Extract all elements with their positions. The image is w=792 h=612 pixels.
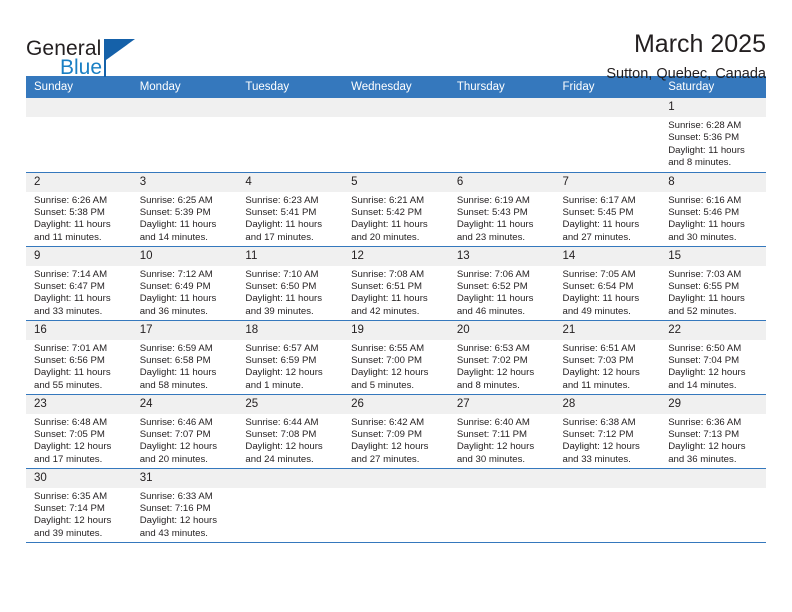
sunrise-text: Sunrise: 7:08 AM xyxy=(351,269,445,281)
sunrise-text: Sunrise: 7:05 AM xyxy=(563,269,657,281)
daylight-text: Daylight: 11 hours and 52 minutes. xyxy=(668,293,762,318)
sunrise-text: Sunrise: 6:25 AM xyxy=(140,195,234,207)
daylight-text: Daylight: 11 hours and 46 minutes. xyxy=(457,293,551,318)
calendar-day-cell[interactable]: 21Sunrise: 6:51 AMSunset: 7:03 PMDayligh… xyxy=(555,320,661,394)
daylight-text: Daylight: 12 hours and 39 minutes. xyxy=(34,515,128,540)
day-number xyxy=(343,469,449,488)
day-details: Sunrise: 7:03 AMSunset: 6:55 PMDaylight:… xyxy=(660,266,766,319)
day-details: Sunrise: 6:59 AMSunset: 6:58 PMDaylight:… xyxy=(132,340,238,393)
calendar-page: General Blue March 2025 Sutton, Quebec, … xyxy=(0,0,792,612)
day-number: 28 xyxy=(555,395,661,414)
sunset-text: Sunset: 7:08 PM xyxy=(245,429,339,441)
calendar-empty-cell xyxy=(26,98,132,172)
sunrise-text: Sunrise: 6:23 AM xyxy=(245,195,339,207)
day-number: 3 xyxy=(132,173,238,192)
day-number xyxy=(449,98,555,117)
day-number: 14 xyxy=(555,247,661,266)
sunrise-text: Sunrise: 6:48 AM xyxy=(34,417,128,429)
day-details: Sunrise: 6:25 AMSunset: 5:39 PMDaylight:… xyxy=(132,192,238,245)
sunset-text: Sunset: 7:16 PM xyxy=(140,503,234,515)
calendar-week-row: 23Sunrise: 6:48 AMSunset: 7:05 PMDayligh… xyxy=(26,394,766,468)
day-number xyxy=(555,98,661,117)
sunset-text: Sunset: 6:52 PM xyxy=(457,281,551,293)
sunset-text: Sunset: 7:13 PM xyxy=(668,429,762,441)
sunrise-text: Sunrise: 7:06 AM xyxy=(457,269,551,281)
calendar-day-cell[interactable]: 30Sunrise: 6:35 AMSunset: 7:14 PMDayligh… xyxy=(26,468,132,542)
logo-text-blue: Blue xyxy=(60,57,102,78)
day-details: Sunrise: 6:46 AMSunset: 7:07 PMDaylight:… xyxy=(132,414,238,467)
calendar-day-cell[interactable]: 3Sunrise: 6:25 AMSunset: 5:39 PMDaylight… xyxy=(132,172,238,246)
day-details: Sunrise: 6:42 AMSunset: 7:09 PMDaylight:… xyxy=(343,414,449,467)
daylight-text: Daylight: 11 hours and 49 minutes. xyxy=(563,293,657,318)
sunrise-text: Sunrise: 6:53 AM xyxy=(457,343,551,355)
calendar-day-cell[interactable]: 14Sunrise: 7:05 AMSunset: 6:54 PMDayligh… xyxy=(555,246,661,320)
sunrise-text: Sunrise: 6:55 AM xyxy=(351,343,445,355)
calendar-empty-cell xyxy=(343,98,449,172)
sunrise-text: Sunrise: 6:38 AM xyxy=(563,417,657,429)
calendar-week-row: 9Sunrise: 7:14 AMSunset: 6:47 PMDaylight… xyxy=(26,246,766,320)
calendar-empty-cell xyxy=(555,98,661,172)
day-details: Sunrise: 6:33 AMSunset: 7:16 PMDaylight:… xyxy=(132,488,238,541)
daylight-text: Daylight: 12 hours and 27 minutes. xyxy=(351,441,445,466)
sunrise-text: Sunrise: 6:35 AM xyxy=(34,491,128,503)
day-details: Sunrise: 6:44 AMSunset: 7:08 PMDaylight:… xyxy=(237,414,343,467)
calendar-day-cell[interactable]: 31Sunrise: 6:33 AMSunset: 7:16 PMDayligh… xyxy=(132,468,238,542)
sunset-text: Sunset: 7:09 PM xyxy=(351,429,445,441)
sunset-text: Sunset: 6:55 PM xyxy=(668,281,762,293)
day-number: 20 xyxy=(449,321,555,340)
calendar-empty-cell xyxy=(449,468,555,542)
day-details: Sunrise: 6:38 AMSunset: 7:12 PMDaylight:… xyxy=(555,414,661,467)
daylight-text: Daylight: 11 hours and 30 minutes. xyxy=(668,219,762,244)
calendar-day-cell[interactable]: 4Sunrise: 6:23 AMSunset: 5:41 PMDaylight… xyxy=(237,172,343,246)
sunrise-text: Sunrise: 6:50 AM xyxy=(668,343,762,355)
calendar-day-cell[interactable]: 28Sunrise: 6:38 AMSunset: 7:12 PMDayligh… xyxy=(555,394,661,468)
day-details: Sunrise: 6:21 AMSunset: 5:42 PMDaylight:… xyxy=(343,192,449,245)
sunset-text: Sunset: 5:45 PM xyxy=(563,207,657,219)
calendar-day-cell[interactable]: 6Sunrise: 6:19 AMSunset: 5:43 PMDaylight… xyxy=(449,172,555,246)
day-number: 30 xyxy=(26,469,132,488)
calendar-day-cell[interactable]: 9Sunrise: 7:14 AMSunset: 6:47 PMDaylight… xyxy=(26,246,132,320)
day-details: Sunrise: 7:14 AMSunset: 6:47 PMDaylight:… xyxy=(26,266,132,319)
day-details: Sunrise: 6:53 AMSunset: 7:02 PMDaylight:… xyxy=(449,340,555,393)
day-number: 23 xyxy=(26,395,132,414)
sunrise-text: Sunrise: 6:26 AM xyxy=(34,195,128,207)
day-number: 15 xyxy=(660,247,766,266)
day-details: Sunrise: 7:12 AMSunset: 6:49 PMDaylight:… xyxy=(132,266,238,319)
day-number: 11 xyxy=(237,247,343,266)
calendar-day-cell[interactable]: 22Sunrise: 6:50 AMSunset: 7:04 PMDayligh… xyxy=(660,320,766,394)
calendar-day-cell[interactable]: 7Sunrise: 6:17 AMSunset: 5:45 PMDaylight… xyxy=(555,172,661,246)
daylight-text: Daylight: 11 hours and 36 minutes. xyxy=(140,293,234,318)
day-number: 24 xyxy=(132,395,238,414)
weekday-header-tuesday: Tuesday xyxy=(237,76,343,98)
daylight-text: Daylight: 11 hours and 23 minutes. xyxy=(457,219,551,244)
sunrise-text: Sunrise: 6:19 AM xyxy=(457,195,551,207)
daylight-text: Daylight: 12 hours and 8 minutes. xyxy=(457,367,551,392)
day-number: 4 xyxy=(237,173,343,192)
sunset-text: Sunset: 7:04 PM xyxy=(668,355,762,367)
daylight-text: Daylight: 11 hours and 58 minutes. xyxy=(140,367,234,392)
calendar-day-cell[interactable]: 10Sunrise: 7:12 AMSunset: 6:49 PMDayligh… xyxy=(132,246,238,320)
day-number: 16 xyxy=(26,321,132,340)
sunset-text: Sunset: 6:58 PM xyxy=(140,355,234,367)
day-number xyxy=(343,98,449,117)
daylight-text: Daylight: 11 hours and 39 minutes. xyxy=(245,293,339,318)
day-number: 31 xyxy=(132,469,238,488)
sunset-text: Sunset: 5:46 PM xyxy=(668,207,762,219)
weekday-header-thursday: Thursday xyxy=(449,76,555,98)
daylight-text: Daylight: 12 hours and 36 minutes. xyxy=(668,441,762,466)
calendar-empty-cell xyxy=(555,468,661,542)
weekday-header-monday: Monday xyxy=(132,76,238,98)
calendar-week-row: 1Sunrise: 6:28 AMSunset: 5:36 PMDaylight… xyxy=(26,98,766,172)
sunset-text: Sunset: 6:59 PM xyxy=(245,355,339,367)
calendar-day-cell[interactable]: 17Sunrise: 6:59 AMSunset: 6:58 PMDayligh… xyxy=(132,320,238,394)
daylight-text: Daylight: 11 hours and 20 minutes. xyxy=(351,219,445,244)
day-number: 8 xyxy=(660,173,766,192)
day-number: 19 xyxy=(343,321,449,340)
day-details: Sunrise: 6:35 AMSunset: 7:14 PMDaylight:… xyxy=(26,488,132,541)
day-details: Sunrise: 6:51 AMSunset: 7:03 PMDaylight:… xyxy=(555,340,661,393)
daylight-text: Daylight: 12 hours and 14 minutes. xyxy=(668,367,762,392)
day-number xyxy=(449,469,555,488)
sunrise-text: Sunrise: 6:16 AM xyxy=(668,195,762,207)
sunset-text: Sunset: 5:38 PM xyxy=(34,207,128,219)
day-number: 6 xyxy=(449,173,555,192)
location-subtitle: Sutton, Quebec, Canada xyxy=(606,66,766,82)
calendar-body: 1Sunrise: 6:28 AMSunset: 5:36 PMDaylight… xyxy=(26,98,766,542)
calendar-day-cell[interactable]: 13Sunrise: 7:06 AMSunset: 6:52 PMDayligh… xyxy=(449,246,555,320)
day-details: Sunrise: 7:08 AMSunset: 6:51 PMDaylight:… xyxy=(343,266,449,319)
day-number: 10 xyxy=(132,247,238,266)
calendar-week-row: 30Sunrise: 6:35 AMSunset: 7:14 PMDayligh… xyxy=(26,468,766,542)
calendar-week-row: 2Sunrise: 6:26 AMSunset: 5:38 PMDaylight… xyxy=(26,172,766,246)
calendar-day-cell[interactable]: 18Sunrise: 6:57 AMSunset: 6:59 PMDayligh… xyxy=(237,320,343,394)
day-details: Sunrise: 6:17 AMSunset: 5:45 PMDaylight:… xyxy=(555,192,661,245)
day-number: 2 xyxy=(26,173,132,192)
daylight-text: Daylight: 12 hours and 24 minutes. xyxy=(245,441,339,466)
weekday-header-wednesday: Wednesday xyxy=(343,76,449,98)
day-details: Sunrise: 6:19 AMSunset: 5:43 PMDaylight:… xyxy=(449,192,555,245)
daylight-text: Daylight: 11 hours and 14 minutes. xyxy=(140,219,234,244)
day-number: 12 xyxy=(343,247,449,266)
calendar-day-cell[interactable]: 5Sunrise: 6:21 AMSunset: 5:42 PMDaylight… xyxy=(343,172,449,246)
daylight-text: Daylight: 12 hours and 20 minutes. xyxy=(140,441,234,466)
sunset-text: Sunset: 7:12 PM xyxy=(563,429,657,441)
sunset-text: Sunset: 6:49 PM xyxy=(140,281,234,293)
sunset-text: Sunset: 7:05 PM xyxy=(34,429,128,441)
title-block: March 2025 Sutton, Quebec, Canada xyxy=(606,30,766,82)
sunset-text: Sunset: 5:39 PM xyxy=(140,207,234,219)
calendar-empty-cell xyxy=(237,468,343,542)
day-number xyxy=(237,469,343,488)
day-number: 26 xyxy=(343,395,449,414)
sunrise-text: Sunrise: 7:03 AM xyxy=(668,269,762,281)
sunset-text: Sunset: 6:50 PM xyxy=(245,281,339,293)
day-number: 29 xyxy=(660,395,766,414)
day-details: Sunrise: 6:40 AMSunset: 7:11 PMDaylight:… xyxy=(449,414,555,467)
sunrise-text: Sunrise: 6:44 AM xyxy=(245,417,339,429)
daylight-text: Daylight: 11 hours and 17 minutes. xyxy=(245,219,339,244)
calendar-empty-cell xyxy=(237,98,343,172)
sunset-text: Sunset: 7:03 PM xyxy=(563,355,657,367)
day-number: 25 xyxy=(237,395,343,414)
calendar-day-cell[interactable]: 1Sunrise: 6:28 AMSunset: 5:36 PMDaylight… xyxy=(660,98,766,172)
day-number: 13 xyxy=(449,247,555,266)
sunrise-text: Sunrise: 6:33 AM xyxy=(140,491,234,503)
triangle-flag-icon xyxy=(106,39,135,60)
day-details: Sunrise: 6:16 AMSunset: 5:46 PMDaylight:… xyxy=(660,192,766,245)
page-title: March 2025 xyxy=(606,30,766,59)
calendar-day-cell[interactable]: 23Sunrise: 6:48 AMSunset: 7:05 PMDayligh… xyxy=(26,394,132,468)
day-details: Sunrise: 6:26 AMSunset: 5:38 PMDaylight:… xyxy=(26,192,132,245)
daylight-text: Daylight: 11 hours and 55 minutes. xyxy=(34,367,128,392)
calendar-empty-cell xyxy=(132,98,238,172)
day-number xyxy=(660,469,766,488)
day-details: Sunrise: 7:01 AMSunset: 6:56 PMDaylight:… xyxy=(26,340,132,393)
calendar-day-cell[interactable]: 19Sunrise: 6:55 AMSunset: 7:00 PMDayligh… xyxy=(343,320,449,394)
sunrise-text: Sunrise: 6:21 AM xyxy=(351,195,445,207)
calendar-empty-cell xyxy=(449,98,555,172)
daylight-text: Daylight: 12 hours and 17 minutes. xyxy=(34,441,128,466)
day-number xyxy=(555,469,661,488)
sunrise-text: Sunrise: 6:42 AM xyxy=(351,417,445,429)
sunrise-text: Sunrise: 6:59 AM xyxy=(140,343,234,355)
sunset-text: Sunset: 5:41 PM xyxy=(245,207,339,219)
daylight-text: Daylight: 11 hours and 11 minutes. xyxy=(34,219,128,244)
daylight-text: Daylight: 12 hours and 33 minutes. xyxy=(563,441,657,466)
calendar-day-cell[interactable]: 20Sunrise: 6:53 AMSunset: 7:02 PMDayligh… xyxy=(449,320,555,394)
sunrise-text: Sunrise: 6:51 AM xyxy=(563,343,657,355)
sunrise-text: Sunrise: 7:01 AM xyxy=(34,343,128,355)
day-number: 1 xyxy=(660,98,766,117)
sunrise-text: Sunrise: 6:46 AM xyxy=(140,417,234,429)
sunrise-text: Sunrise: 6:57 AM xyxy=(245,343,339,355)
calendar-day-cell[interactable]: 29Sunrise: 6:36 AMSunset: 7:13 PMDayligh… xyxy=(660,394,766,468)
calendar-week-row: 16Sunrise: 7:01 AMSunset: 6:56 PMDayligh… xyxy=(26,320,766,394)
sunset-text: Sunset: 7:11 PM xyxy=(457,429,551,441)
daylight-text: Daylight: 11 hours and 8 minutes. xyxy=(668,145,762,170)
day-number xyxy=(237,98,343,117)
sunrise-text: Sunrise: 7:12 AM xyxy=(140,269,234,281)
daylight-text: Daylight: 12 hours and 5 minutes. xyxy=(351,367,445,392)
daylight-text: Daylight: 11 hours and 33 minutes. xyxy=(34,293,128,318)
day-number xyxy=(132,98,238,117)
day-details: Sunrise: 7:06 AMSunset: 6:52 PMDaylight:… xyxy=(449,266,555,319)
calendar-day-cell[interactable]: 2Sunrise: 6:26 AMSunset: 5:38 PMDaylight… xyxy=(26,172,132,246)
day-details: Sunrise: 6:57 AMSunset: 6:59 PMDaylight:… xyxy=(237,340,343,393)
sunset-text: Sunset: 7:07 PM xyxy=(140,429,234,441)
daylight-text: Daylight: 11 hours and 42 minutes. xyxy=(351,293,445,318)
calendar-day-cell[interactable]: 8Sunrise: 6:16 AMSunset: 5:46 PMDaylight… xyxy=(660,172,766,246)
sunset-text: Sunset: 5:43 PM xyxy=(457,207,551,219)
day-number: 21 xyxy=(555,321,661,340)
day-details: Sunrise: 7:10 AMSunset: 6:50 PMDaylight:… xyxy=(237,266,343,319)
day-details: Sunrise: 6:50 AMSunset: 7:04 PMDaylight:… xyxy=(660,340,766,393)
sunset-text: Sunset: 6:47 PM xyxy=(34,281,128,293)
daylight-text: Daylight: 11 hours and 27 minutes. xyxy=(563,219,657,244)
sunrise-text: Sunrise: 7:10 AM xyxy=(245,269,339,281)
daylight-text: Daylight: 12 hours and 30 minutes. xyxy=(457,441,551,466)
day-details: Sunrise: 6:23 AMSunset: 5:41 PMDaylight:… xyxy=(237,192,343,245)
sunrise-text: Sunrise: 6:28 AM xyxy=(668,120,762,132)
day-number: 27 xyxy=(449,395,555,414)
day-number: 18 xyxy=(237,321,343,340)
calendar-day-cell[interactable]: 12Sunrise: 7:08 AMSunset: 6:51 PMDayligh… xyxy=(343,246,449,320)
day-number: 7 xyxy=(555,173,661,192)
calendar-empty-cell xyxy=(660,468,766,542)
sunset-text: Sunset: 6:51 PM xyxy=(351,281,445,293)
day-details: Sunrise: 6:36 AMSunset: 7:13 PMDaylight:… xyxy=(660,414,766,467)
daylight-text: Daylight: 12 hours and 11 minutes. xyxy=(563,367,657,392)
day-details: Sunrise: 7:05 AMSunset: 6:54 PMDaylight:… xyxy=(555,266,661,319)
calendar-day-cell[interactable]: 27Sunrise: 6:40 AMSunset: 7:11 PMDayligh… xyxy=(449,394,555,468)
sunset-text: Sunset: 7:00 PM xyxy=(351,355,445,367)
sunset-text: Sunset: 5:36 PM xyxy=(668,132,762,144)
day-number xyxy=(26,98,132,117)
day-details: Sunrise: 6:48 AMSunset: 7:05 PMDaylight:… xyxy=(26,414,132,467)
general-blue-logo[interactable]: General Blue xyxy=(26,30,146,80)
calendar-day-cell[interactable]: 26Sunrise: 6:42 AMSunset: 7:09 PMDayligh… xyxy=(343,394,449,468)
sunrise-sunset-calendar: Sunday Monday Tuesday Wednesday Thursday… xyxy=(26,76,766,543)
sunset-text: Sunset: 6:56 PM xyxy=(34,355,128,367)
calendar-day-cell[interactable]: 24Sunrise: 6:46 AMSunset: 7:07 PMDayligh… xyxy=(132,394,238,468)
calendar-day-cell[interactable]: 16Sunrise: 7:01 AMSunset: 6:56 PMDayligh… xyxy=(26,320,132,394)
day-number: 9 xyxy=(26,247,132,266)
day-number: 5 xyxy=(343,173,449,192)
sunset-text: Sunset: 7:02 PM xyxy=(457,355,551,367)
sunrise-text: Sunrise: 6:36 AM xyxy=(668,417,762,429)
sunset-text: Sunset: 7:14 PM xyxy=(34,503,128,515)
day-number: 22 xyxy=(660,321,766,340)
day-details: Sunrise: 6:55 AMSunset: 7:00 PMDaylight:… xyxy=(343,340,449,393)
sunrise-text: Sunrise: 6:40 AM xyxy=(457,417,551,429)
page-header: General Blue March 2025 Sutton, Quebec, … xyxy=(26,0,766,76)
calendar-empty-cell xyxy=(343,468,449,542)
sunset-text: Sunset: 5:42 PM xyxy=(351,207,445,219)
day-details: Sunrise: 6:28 AMSunset: 5:36 PMDaylight:… xyxy=(660,117,766,170)
calendar-day-cell[interactable]: 15Sunrise: 7:03 AMSunset: 6:55 PMDayligh… xyxy=(660,246,766,320)
sunset-text: Sunset: 6:54 PM xyxy=(563,281,657,293)
sunrise-text: Sunrise: 7:14 AM xyxy=(34,269,128,281)
day-number: 17 xyxy=(132,321,238,340)
calendar-day-cell[interactable]: 11Sunrise: 7:10 AMSunset: 6:50 PMDayligh… xyxy=(237,246,343,320)
sunrise-text: Sunrise: 6:17 AM xyxy=(563,195,657,207)
daylight-text: Daylight: 12 hours and 1 minute. xyxy=(245,367,339,392)
calendar-day-cell[interactable]: 25Sunrise: 6:44 AMSunset: 7:08 PMDayligh… xyxy=(237,394,343,468)
daylight-text: Daylight: 12 hours and 43 minutes. xyxy=(140,515,234,540)
